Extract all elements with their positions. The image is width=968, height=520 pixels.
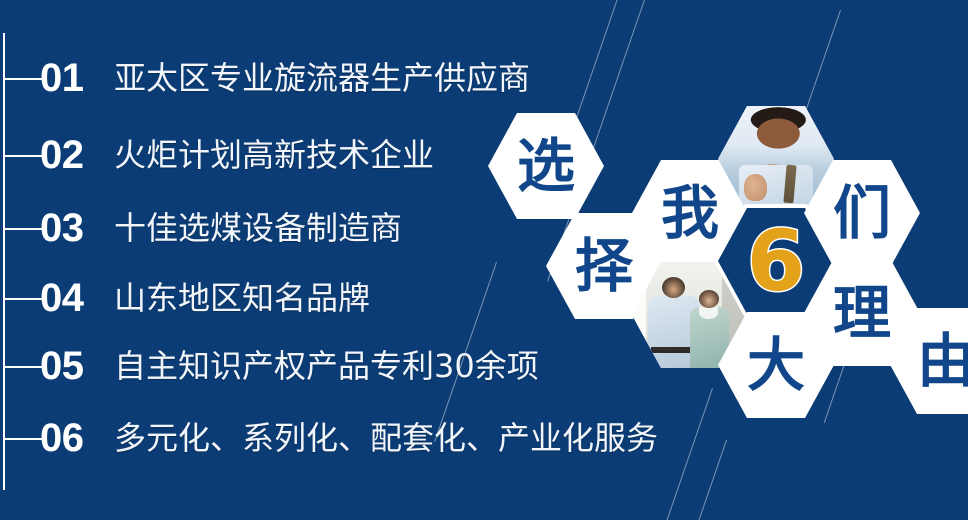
hex-glyph: 选	[517, 137, 575, 195]
hex-glyph: 由	[917, 332, 968, 390]
hex-glyph: 我	[661, 184, 719, 242]
hex-glyph: 择	[575, 237, 633, 295]
list-item-text: 火炬计划高新技术企业	[114, 137, 434, 173]
hex-glyph: 大	[747, 336, 805, 394]
thumbs-up-hand	[744, 174, 767, 202]
man-head	[662, 277, 685, 298]
list-item-text: 多元化、系列化、配套化、产业化服务	[114, 420, 658, 456]
diagonal-line-6	[687, 440, 727, 520]
list-item-text: 亚太区专业旋流器生产供应商	[114, 60, 530, 96]
hex-glyph: 理	[833, 284, 891, 342]
list-item: 04 山东地区知名品牌	[40, 272, 370, 324]
list-item-number: 03	[40, 208, 114, 248]
list-item: 05 自主知识产权产品专利30余项	[40, 340, 539, 392]
hex-glyph-six: 6	[747, 219, 805, 303]
list-item-text: 山东地区知名品牌	[114, 280, 370, 316]
list-item-number: 04	[40, 278, 114, 318]
list-item: 01 亚太区专业旋流器生产供应商	[40, 52, 530, 104]
woman-head	[699, 290, 719, 308]
list-item-text: 十佳选煤设备制造商	[114, 210, 402, 246]
woman-collar	[699, 307, 718, 320]
list-item-text: 自主知识产权产品专利30余项	[114, 348, 539, 384]
poster-canvas: 01 亚太区专业旋流器生产供应商 02 火炬计划高新技术企业 03 十佳选煤设备…	[0, 0, 968, 520]
list-item-number: 02	[40, 135, 114, 175]
hex-glyph: 们	[833, 184, 891, 242]
list-item: 06 多元化、系列化、配套化、产业化服务	[40, 412, 658, 464]
list-item-number: 05	[40, 346, 114, 386]
list-item: 03 十佳选煤设备制造商	[40, 202, 402, 254]
list-item-number: 01	[40, 58, 114, 98]
list-item: 02 火炬计划高新技术企业	[40, 129, 434, 181]
list-item-number: 06	[40, 418, 114, 458]
feature-list: 01 亚太区专业旋流器生产供应商 02 火炬计划高新技术企业 03 十佳选煤设备…	[0, 0, 620, 520]
